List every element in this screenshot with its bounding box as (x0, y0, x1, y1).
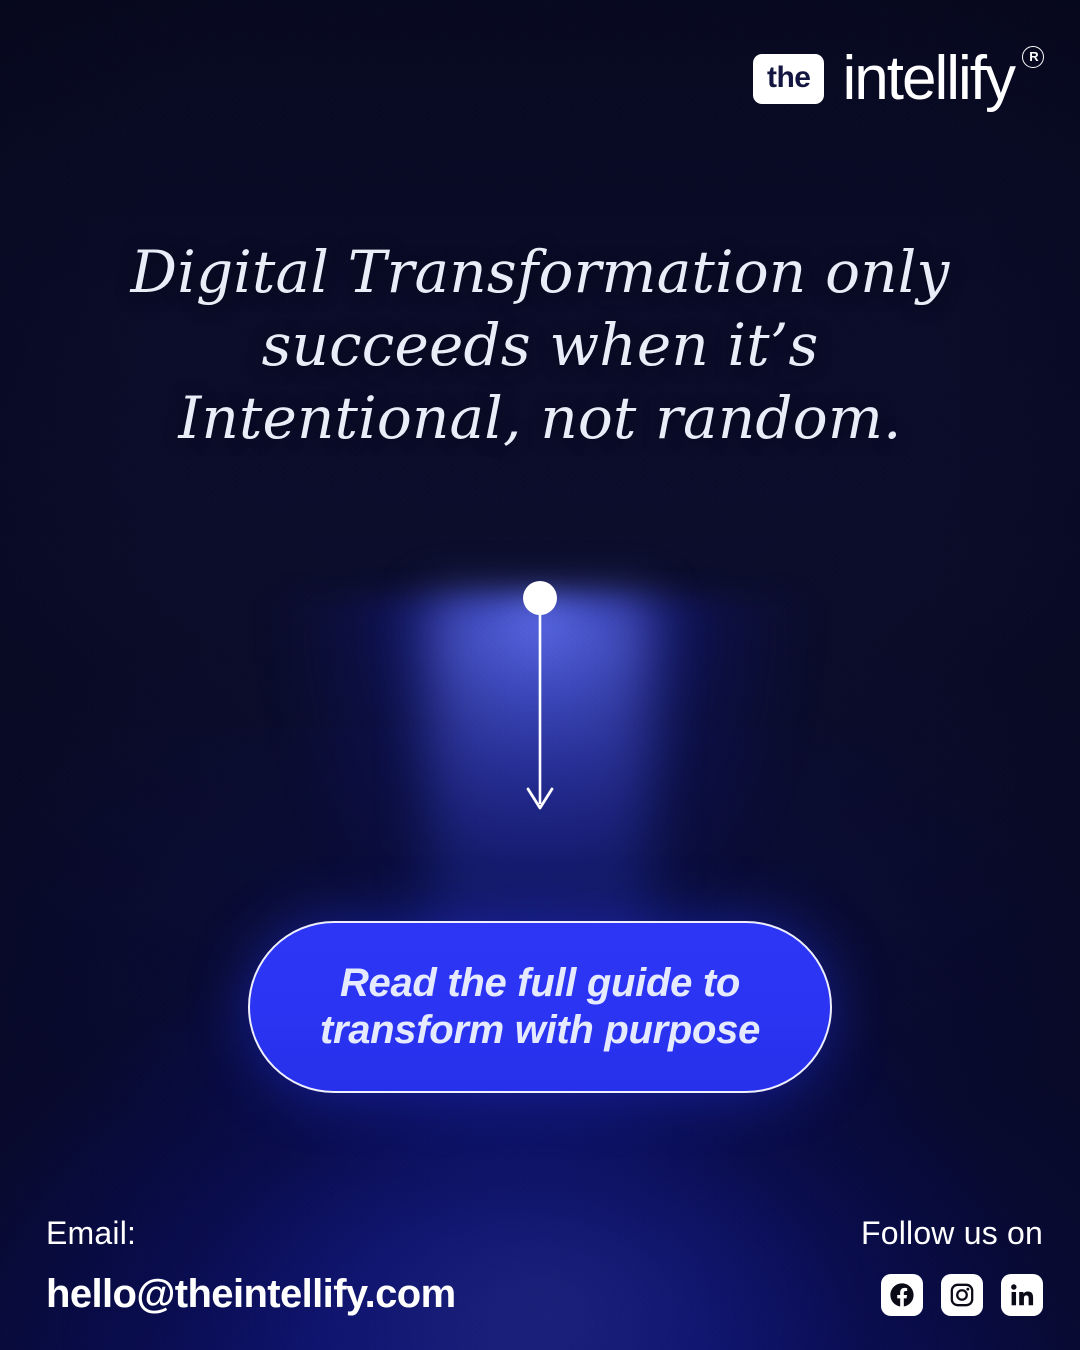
instagram-icon[interactable] (941, 1274, 983, 1316)
cta-button-label: Read the full guide to transform with pu… (320, 960, 760, 1054)
email-label: Email: (46, 1214, 456, 1252)
facebook-icon[interactable] (881, 1274, 923, 1316)
logo-the-badge: the (753, 54, 825, 104)
registered-trademark-icon: R (1022, 46, 1044, 68)
cta-label-line-2: transform with purpose (320, 1007, 760, 1054)
read-full-guide-button[interactable]: Read the full guide to transform with pu… (248, 921, 832, 1093)
down-arrow-icon (510, 580, 570, 830)
headline-line-3: Intentional, not random. (86, 382, 994, 455)
logo-wordmark-text: intellify (842, 44, 1014, 113)
poster-canvas: the intellify R Digital Transformation o… (0, 0, 1080, 1350)
headline-line-1: Digital Transformation only (86, 236, 994, 309)
logo-wordmark: intellify R (842, 48, 1044, 110)
headline-line-2: succeeds when it’s (86, 309, 994, 382)
social-icon-row (861, 1274, 1043, 1316)
headline: Digital Transformation only succeeds whe… (0, 236, 1080, 455)
cta-label-line-1: Read the full guide to (320, 960, 760, 1007)
footer-contact: Email: hello@theintellify.com (46, 1214, 456, 1316)
brand-logo[interactable]: the intellify R (753, 48, 1044, 110)
email-address[interactable]: hello@theintellify.com (46, 1272, 456, 1316)
linkedin-icon[interactable] (1001, 1274, 1043, 1316)
follow-us-label: Follow us on (861, 1214, 1043, 1252)
footer-social: Follow us on (861, 1214, 1043, 1316)
